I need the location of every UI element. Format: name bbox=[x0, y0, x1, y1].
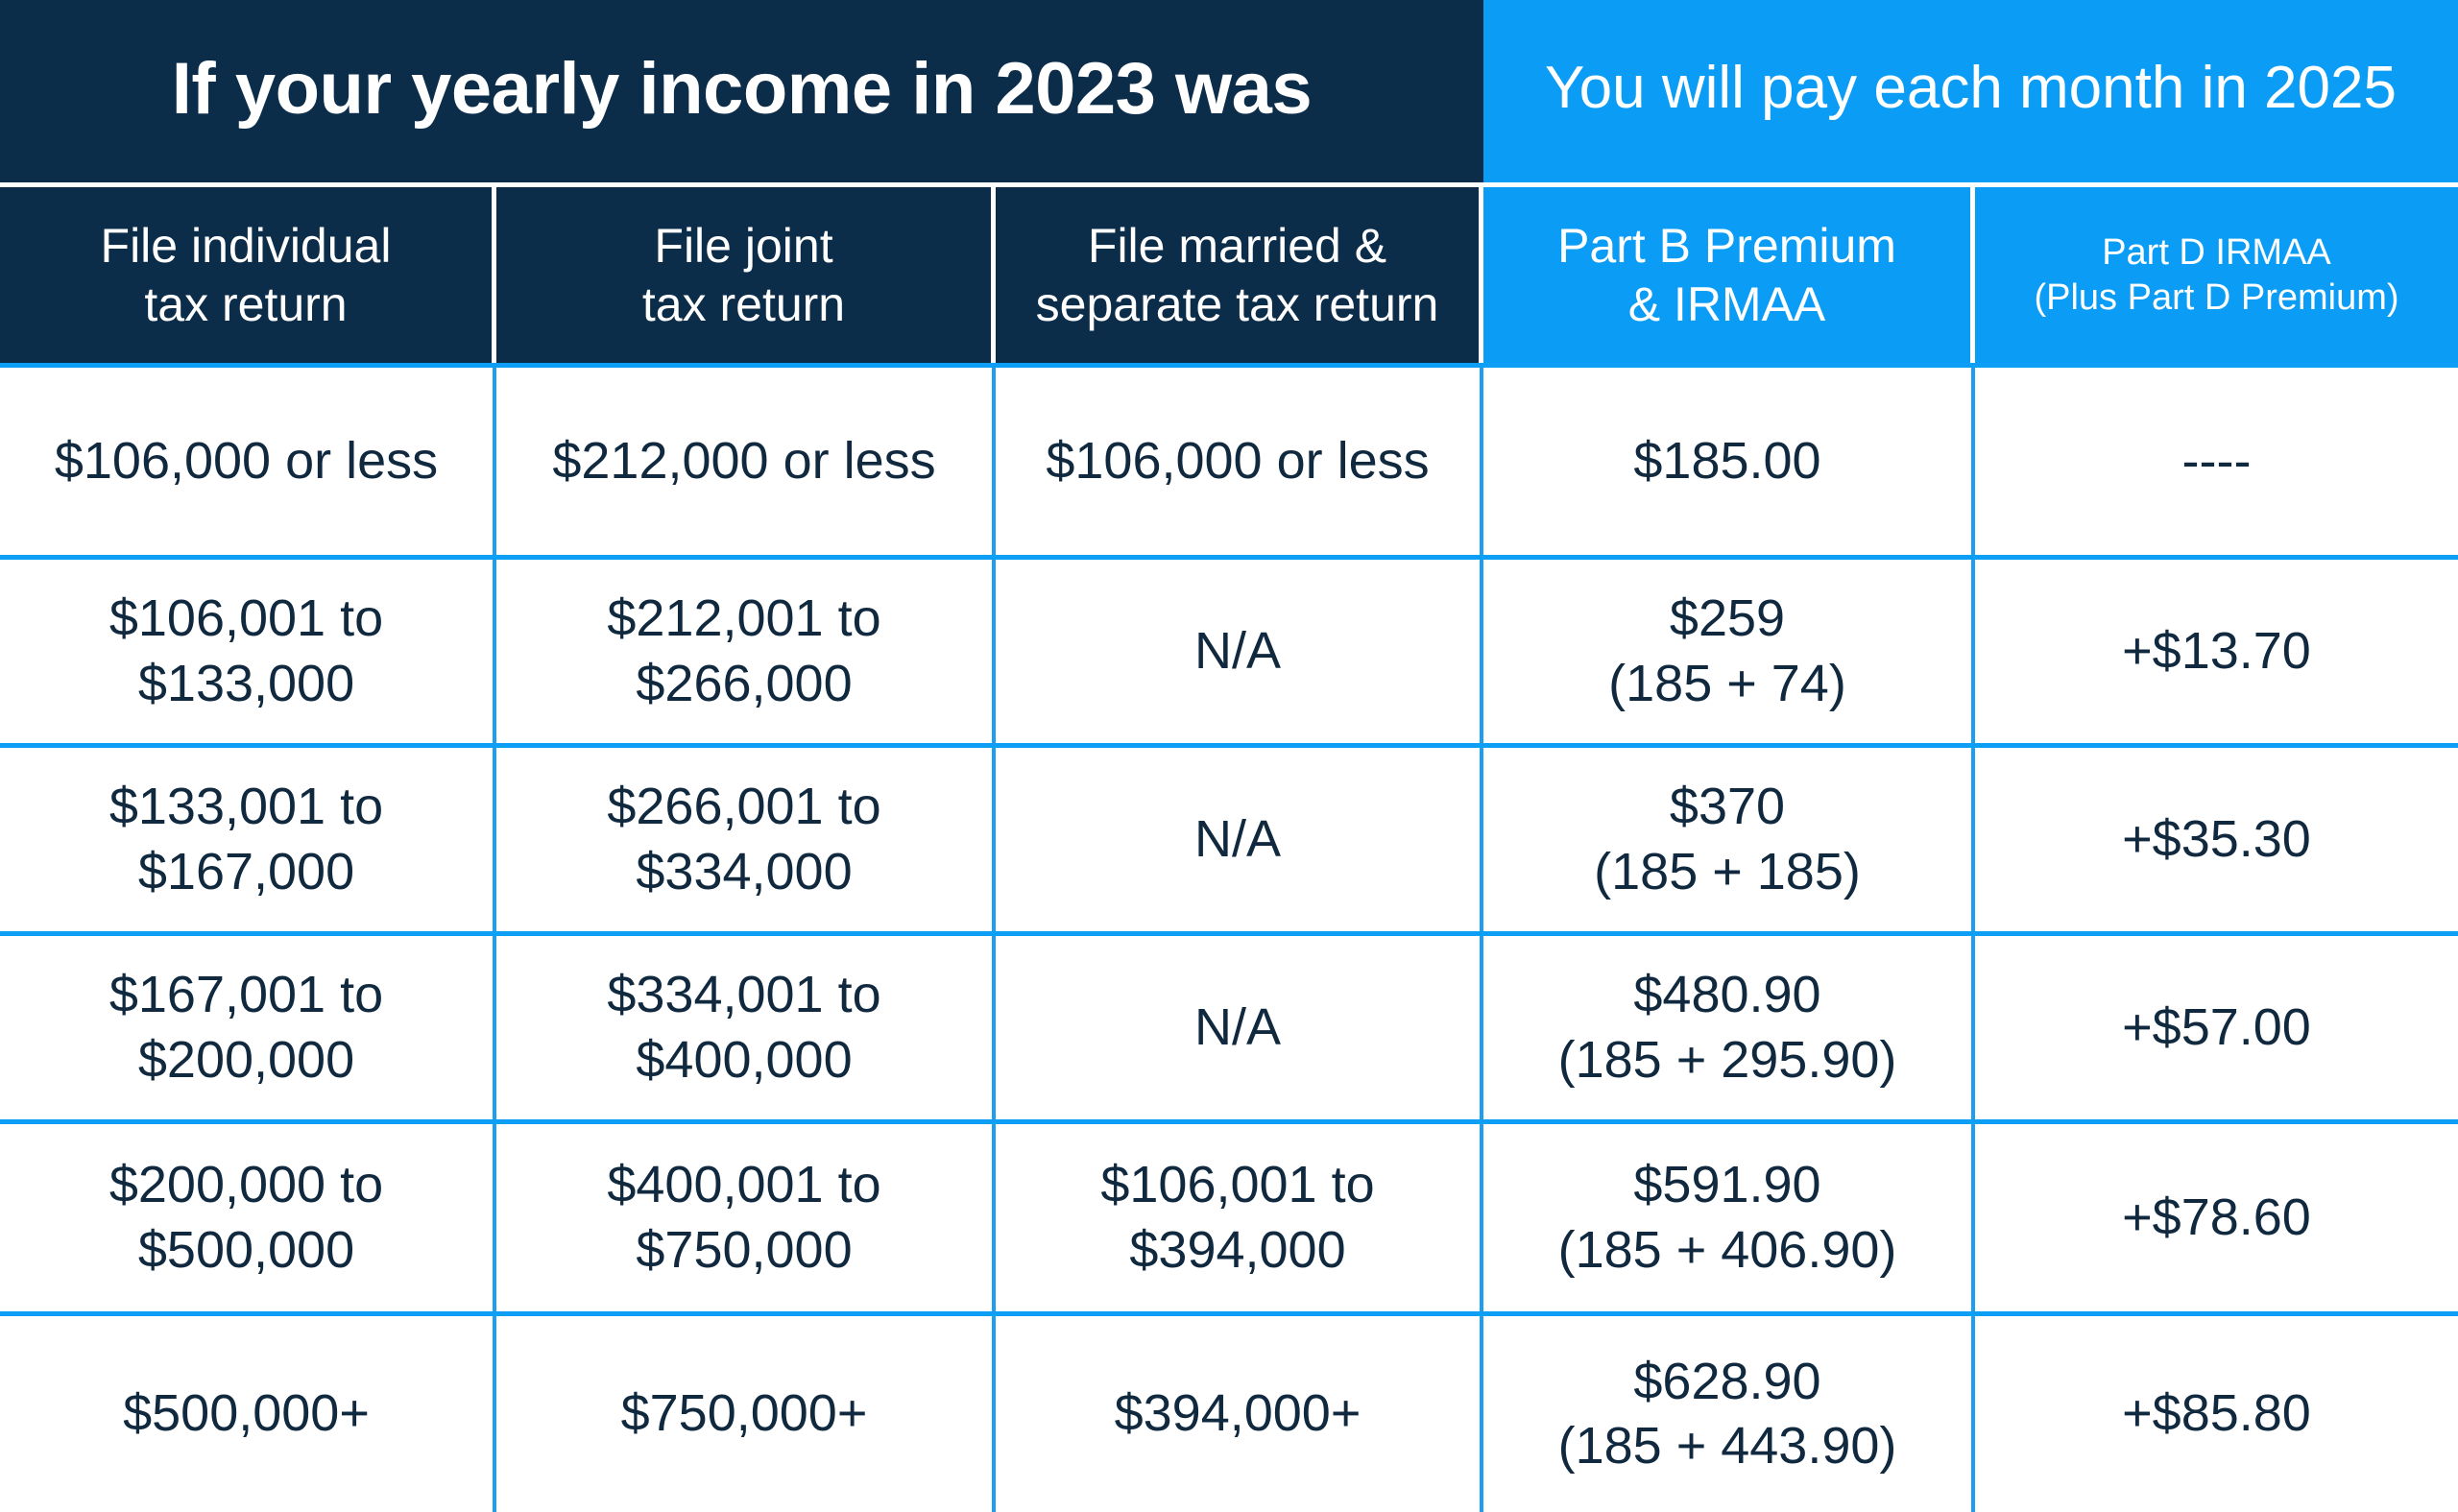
table-row: $167,001 to $200,000 $334,001 to $400,00… bbox=[0, 931, 2458, 1119]
cell-joint: $400,001 to $750,000 bbox=[496, 1124, 996, 1311]
column-header-file-married-separate: File married & separate tax return bbox=[996, 187, 1483, 363]
column-header-part-b-premium: Part B Premium & IRMAA bbox=[1483, 187, 1975, 363]
column-header-row: File individual tax return File joint ta… bbox=[0, 182, 2458, 363]
cell-joint: $334,001 to $400,000 bbox=[496, 936, 996, 1119]
cell-individual: $167,001 to $200,000 bbox=[0, 936, 496, 1119]
cell-married-separate: $394,000+ bbox=[996, 1316, 1483, 1512]
cell-part-d: +$57.00 bbox=[1975, 936, 2458, 1119]
cell-joint: $212,000 or less bbox=[496, 368, 996, 555]
column-header-file-joint: File joint tax return bbox=[496, 187, 996, 363]
cell-part-b: $185.00 bbox=[1483, 368, 1975, 555]
cell-joint: $212,001 to $266,000 bbox=[496, 560, 996, 743]
cell-part-d: +$13.70 bbox=[1975, 560, 2458, 743]
table-banner-row: If your yearly income in 2023 was You wi… bbox=[0, 0, 2458, 182]
cell-joint: $750,000+ bbox=[496, 1316, 996, 1512]
cell-part-b: $591.90 (185 + 406.90) bbox=[1483, 1124, 1975, 1311]
banner-income-title: If your yearly income in 2023 was bbox=[0, 0, 1483, 182]
column-header-part-d-irmaa: Part D IRMAA (Plus Part D Premium) bbox=[1975, 187, 2458, 363]
cell-married-separate: N/A bbox=[996, 748, 1483, 931]
table-row: $500,000+ $750,000+ $394,000+ $628.90 (1… bbox=[0, 1311, 2458, 1512]
cell-part-d: ---- bbox=[1975, 368, 2458, 555]
cell-part-b: $628.90 (185 + 443.90) bbox=[1483, 1316, 1975, 1512]
column-header-file-individual: File individual tax return bbox=[0, 187, 496, 363]
cell-married-separate: N/A bbox=[996, 936, 1483, 1119]
cell-part-b: $480.90 (185 + 295.90) bbox=[1483, 936, 1975, 1119]
table-row: $133,001 to $167,000 $266,001 to $334,00… bbox=[0, 743, 2458, 931]
cell-part-d: +$78.60 bbox=[1975, 1124, 2458, 1311]
table-row: $200,000 to $500,000 $400,001 to $750,00… bbox=[0, 1119, 2458, 1311]
cell-part-b: $370 (185 + 185) bbox=[1483, 748, 1975, 931]
cell-individual: $133,001 to $167,000 bbox=[0, 748, 496, 931]
cell-individual: $200,000 to $500,000 bbox=[0, 1124, 496, 1311]
cell-married-separate: N/A bbox=[996, 560, 1483, 743]
cell-individual: $500,000+ bbox=[0, 1316, 496, 1512]
cell-part-b: $259 (185 + 74) bbox=[1483, 560, 1975, 743]
irmaa-premium-table: If your yearly income in 2023 was You wi… bbox=[0, 0, 2458, 1512]
table-row: $106,001 to $133,000 $212,001 to $266,00… bbox=[0, 555, 2458, 743]
cell-part-d: +$35.30 bbox=[1975, 748, 2458, 931]
table-row: $106,000 or less $212,000 or less $106,0… bbox=[0, 363, 2458, 555]
cell-joint: $266,001 to $334,000 bbox=[496, 748, 996, 931]
cell-part-d: +$85.80 bbox=[1975, 1316, 2458, 1512]
cell-individual: $106,001 to $133,000 bbox=[0, 560, 496, 743]
cell-married-separate: $106,001 to $394,000 bbox=[996, 1124, 1483, 1311]
banner-payment-title: You will pay each month in 2025 bbox=[1483, 0, 2458, 182]
cell-married-separate: $106,000 or less bbox=[996, 368, 1483, 555]
cell-individual: $106,000 or less bbox=[0, 368, 496, 555]
